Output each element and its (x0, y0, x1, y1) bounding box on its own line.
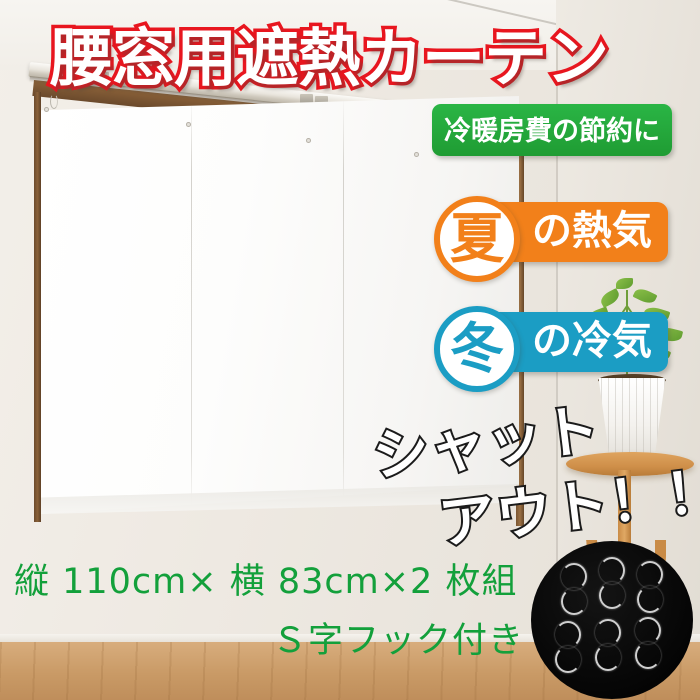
s-hook-icon (595, 619, 625, 673)
s-hook-inset-photo (531, 541, 693, 699)
product-title: 腰窓用遮熱カーテン (50, 8, 700, 99)
curtain-grommet (44, 107, 49, 112)
size-specification: 縦 110cm× 横 83cm×2 枚組 (14, 553, 517, 604)
curtain-grommet (306, 138, 311, 143)
curtain-seam (191, 96, 192, 514)
s-hook-icon (555, 621, 585, 675)
s-hook-icon (561, 563, 591, 617)
curtain-grommet (186, 122, 191, 127)
curtain-grommet (414, 152, 419, 157)
window-frame-left (34, 92, 41, 522)
energy-saving-badge: 冷暖房費の節約に (432, 104, 672, 156)
s-hook-icon (599, 557, 629, 611)
summer-kanji: 夏 (434, 196, 520, 282)
winter-kanji: 冬 (434, 306, 520, 392)
s-hook-icon (637, 561, 667, 615)
curtain-seam (343, 96, 344, 514)
accessory-specification: Ｓ字フック付き (272, 612, 524, 663)
s-hook-icon (635, 617, 665, 671)
advertisement-poster: 腰窓用遮熱カーテン 冷暖房費の節約に の熱気 夏 の冷気 冬 シャット アウト！… (0, 0, 700, 700)
